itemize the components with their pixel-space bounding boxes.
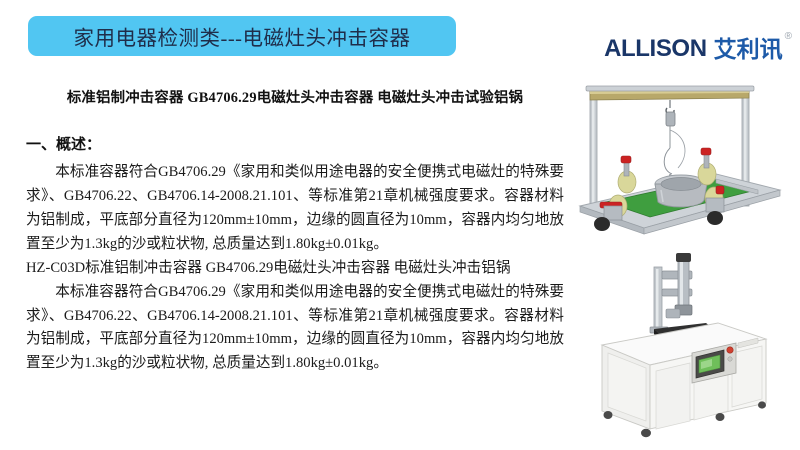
- section-heading-overview: 一、概述：: [26, 133, 564, 154]
- logo-text-en: ALLISON: [604, 36, 707, 62]
- photo-impact-test-machine: [566, 249, 798, 449]
- impact-rig-illustration: [566, 78, 798, 238]
- photo-impact-test-rig: [566, 78, 798, 238]
- page-title-banner: 家用电器检测类---电磁灶头冲击容器: [28, 16, 456, 56]
- test-machine-illustration: [566, 249, 798, 449]
- brand-logo: ALLISON 艾利讯 ®: [604, 36, 792, 66]
- product-photo-panel: [566, 78, 798, 449]
- paragraph-overview-1: 本标准容器符合GB4706.29《家用和类似用途电器的安全便携式电磁灶的特殊要求…: [26, 161, 564, 257]
- model-designation-line: HZ-C03D标准铝制冲击容器 GB4706.29电磁灶头冲击容器 电磁灶头冲击…: [26, 257, 564, 281]
- page-title: 家用电器检测类---电磁灶头冲击容器: [74, 21, 411, 51]
- document-body: 标准铝制冲击容器 GB4706.29电磁灶头冲击容器 电磁灶头冲击试验铝锅 一、…: [26, 86, 564, 376]
- logo-text-cn: 艾利讯: [714, 36, 783, 62]
- product-heading: 标准铝制冲击容器 GB4706.29电磁灶头冲击容器 电磁灶头冲击试验铝锅: [26, 86, 564, 107]
- registered-trademark-icon: ®: [785, 32, 792, 42]
- paragraph-overview-2: 本标准容器符合GB4706.29《家用和类似用途电器的安全便携式电磁灶的特殊要求…: [26, 281, 564, 377]
